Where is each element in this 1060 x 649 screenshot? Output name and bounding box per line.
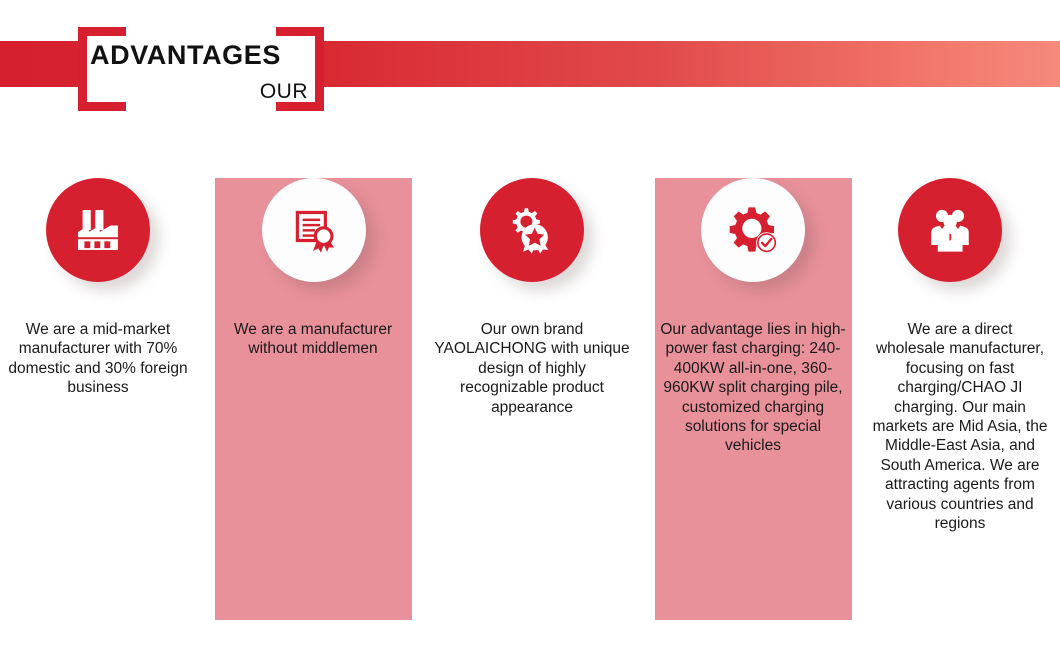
advantage-column-5: We are a direct wholesale manufacturer, … <box>858 130 1060 649</box>
advantage-column-4: Our advantage lies in high-power fast ch… <box>636 130 852 649</box>
factory-icon <box>46 178 150 282</box>
icon-badge-1 <box>46 178 150 282</box>
advantage-text-1: We are a mid-market manufacturer with 70… <box>6 320 190 398</box>
advantage-columns: We are a mid-market manufacturer with 70… <box>0 130 1060 649</box>
icon-badge-5 <box>898 178 1002 282</box>
advantage-column-2: We are a manufacturer without middlemen <box>196 130 412 649</box>
icon-badge-2 <box>262 178 366 282</box>
team-people-icon <box>898 178 1002 282</box>
bracket-right-top-arm <box>276 27 324 36</box>
advantage-text-4: Our advantage lies in high-power fast ch… <box>658 320 848 456</box>
page-title: ADVANTAGES <box>90 40 316 71</box>
bracket-left-top-arm <box>78 27 126 36</box>
gear-check-icon <box>701 178 805 282</box>
advantage-text-5: We are a direct wholesale manufacturer, … <box>872 320 1048 533</box>
advantages-slide: ADVANTAGES OUR <box>0 0 1060 649</box>
header-banner: ADVANTAGES OUR <box>0 0 1060 130</box>
gear-star-badge-icon <box>480 178 584 282</box>
advantage-column-1: We are a mid-market manufacturer with 70… <box>0 130 196 649</box>
certificate-ribbon-icon <box>262 178 366 282</box>
icon-badge-3 <box>480 178 584 282</box>
advantage-column-3: Our own brand YAOLAICHONG with unique de… <box>432 130 632 649</box>
icon-badge-4 <box>701 178 805 282</box>
advantage-text-2: We are a manufacturer without middlemen <box>218 320 408 359</box>
advantage-text-3: Our own brand YAOLAICHONG with unique de… <box>434 320 630 417</box>
page-subtitle: OUR <box>90 80 308 104</box>
